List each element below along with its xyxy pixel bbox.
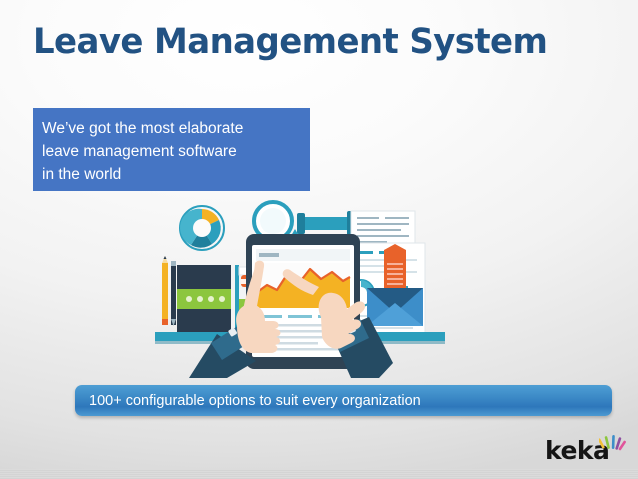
hero-illustration bbox=[155, 193, 485, 378]
feature-banner: 100+ configurable options to suit every … bbox=[75, 385, 612, 416]
callout-line-2: leave management software bbox=[42, 140, 310, 163]
slide-canvas: Leave Management System We’ve got the mo… bbox=[0, 0, 638, 479]
keka-burst-icon bbox=[599, 434, 627, 459]
page-title: Leave Management System bbox=[33, 22, 547, 62]
pen-icon bbox=[171, 261, 176, 326]
callout-line-3: in the world bbox=[42, 163, 310, 186]
donut-chart-icon bbox=[180, 206, 224, 250]
callout-line-1: We’ve got the most elaborate bbox=[42, 117, 310, 140]
bottom-edge-band bbox=[0, 469, 638, 479]
callout-box: We’ve got the most elaborate leave manag… bbox=[33, 108, 310, 191]
keka-logo: keka bbox=[545, 434, 627, 468]
notebook-icon bbox=[177, 265, 239, 333]
feature-banner-text: 100+ configurable options to suit every … bbox=[89, 393, 421, 409]
pencil-icon bbox=[162, 256, 168, 325]
